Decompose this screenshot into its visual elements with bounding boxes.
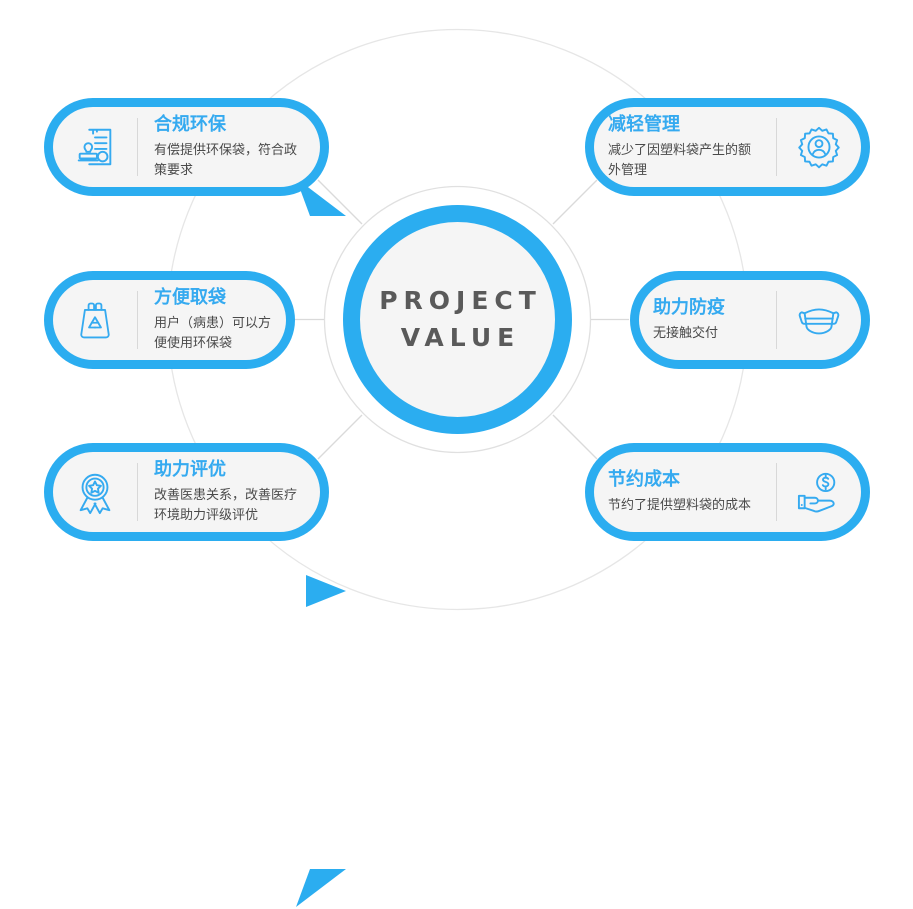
gear-user-icon <box>796 124 842 170</box>
card-rating-tail <box>294 865 354 909</box>
card-cost-title: 节约成本 <box>608 468 760 492</box>
connector-lower-left <box>318 415 362 459</box>
document-stamp-icon <box>72 124 118 170</box>
card-rating-icon-cell <box>53 452 137 532</box>
face-mask-icon <box>794 297 844 343</box>
connector-upper-right <box>553 180 597 224</box>
card-compliance-title: 合规环保 <box>154 113 306 137</box>
card-cost-desc: 节约了提供塑料袋的成本 <box>608 496 760 516</box>
card-epidemic[interactable]: 助力防疫 无接触交付 <box>630 271 870 369</box>
center-title-line2: VALUE <box>395 320 520 356</box>
card-rating-desc: 改善医患关系，改善医疗环境助力评级评优 <box>154 486 306 526</box>
card-compliance-desc: 有偿提供环保袋，符合政策要求 <box>154 141 306 181</box>
card-convenience[interactable]: 方便取袋 用户（病患）可以方便使用环保袋 <box>44 271 295 369</box>
card-management[interactable]: 减轻管理 减少了因塑料袋产生的额外管理 <box>585 98 870 196</box>
card-epidemic-icon-cell <box>777 280 861 360</box>
card-convenience-desc: 用户（病患）可以方便使用环保袋 <box>154 314 272 354</box>
card-rating[interactable]: 助力评优 改善医患关系，改善医疗环境助力评级评优 <box>44 443 329 541</box>
card-management-title: 减轻管理 <box>608 113 760 137</box>
hand-money-icon <box>795 470 843 514</box>
card-compliance-icon-cell <box>53 107 137 187</box>
center-hub: PROJECT VALUE <box>343 205 572 434</box>
infographic-canvas: PROJECT VALUE 合规环保 有偿提供环保 <box>0 0 913 634</box>
card-rating-title: 助力评优 <box>154 458 306 482</box>
card-management-desc: 减少了因塑料袋产生的额外管理 <box>608 141 760 181</box>
center-title-line1: PROJECT <box>373 283 542 319</box>
card-cost-icon-cell <box>777 452 861 532</box>
award-medal-icon <box>72 469 118 515</box>
card-cost[interactable]: 节约成本 节约了提供塑料袋的成本 <box>585 443 870 541</box>
connector-lower-right <box>553 415 597 459</box>
card-epidemic-desc: 无接触交付 <box>653 324 760 344</box>
card-epidemic-title: 助力防疫 <box>653 296 760 320</box>
connector-upper-left <box>318 180 362 224</box>
card-management-icon-cell <box>777 107 861 187</box>
card-convenience-title: 方便取袋 <box>154 286 272 310</box>
recycle-bag-icon <box>73 298 117 342</box>
card-convenience-icon-cell <box>53 280 137 360</box>
card-compliance[interactable]: 合规环保 有偿提供环保袋，符合政策要求 <box>44 98 329 196</box>
